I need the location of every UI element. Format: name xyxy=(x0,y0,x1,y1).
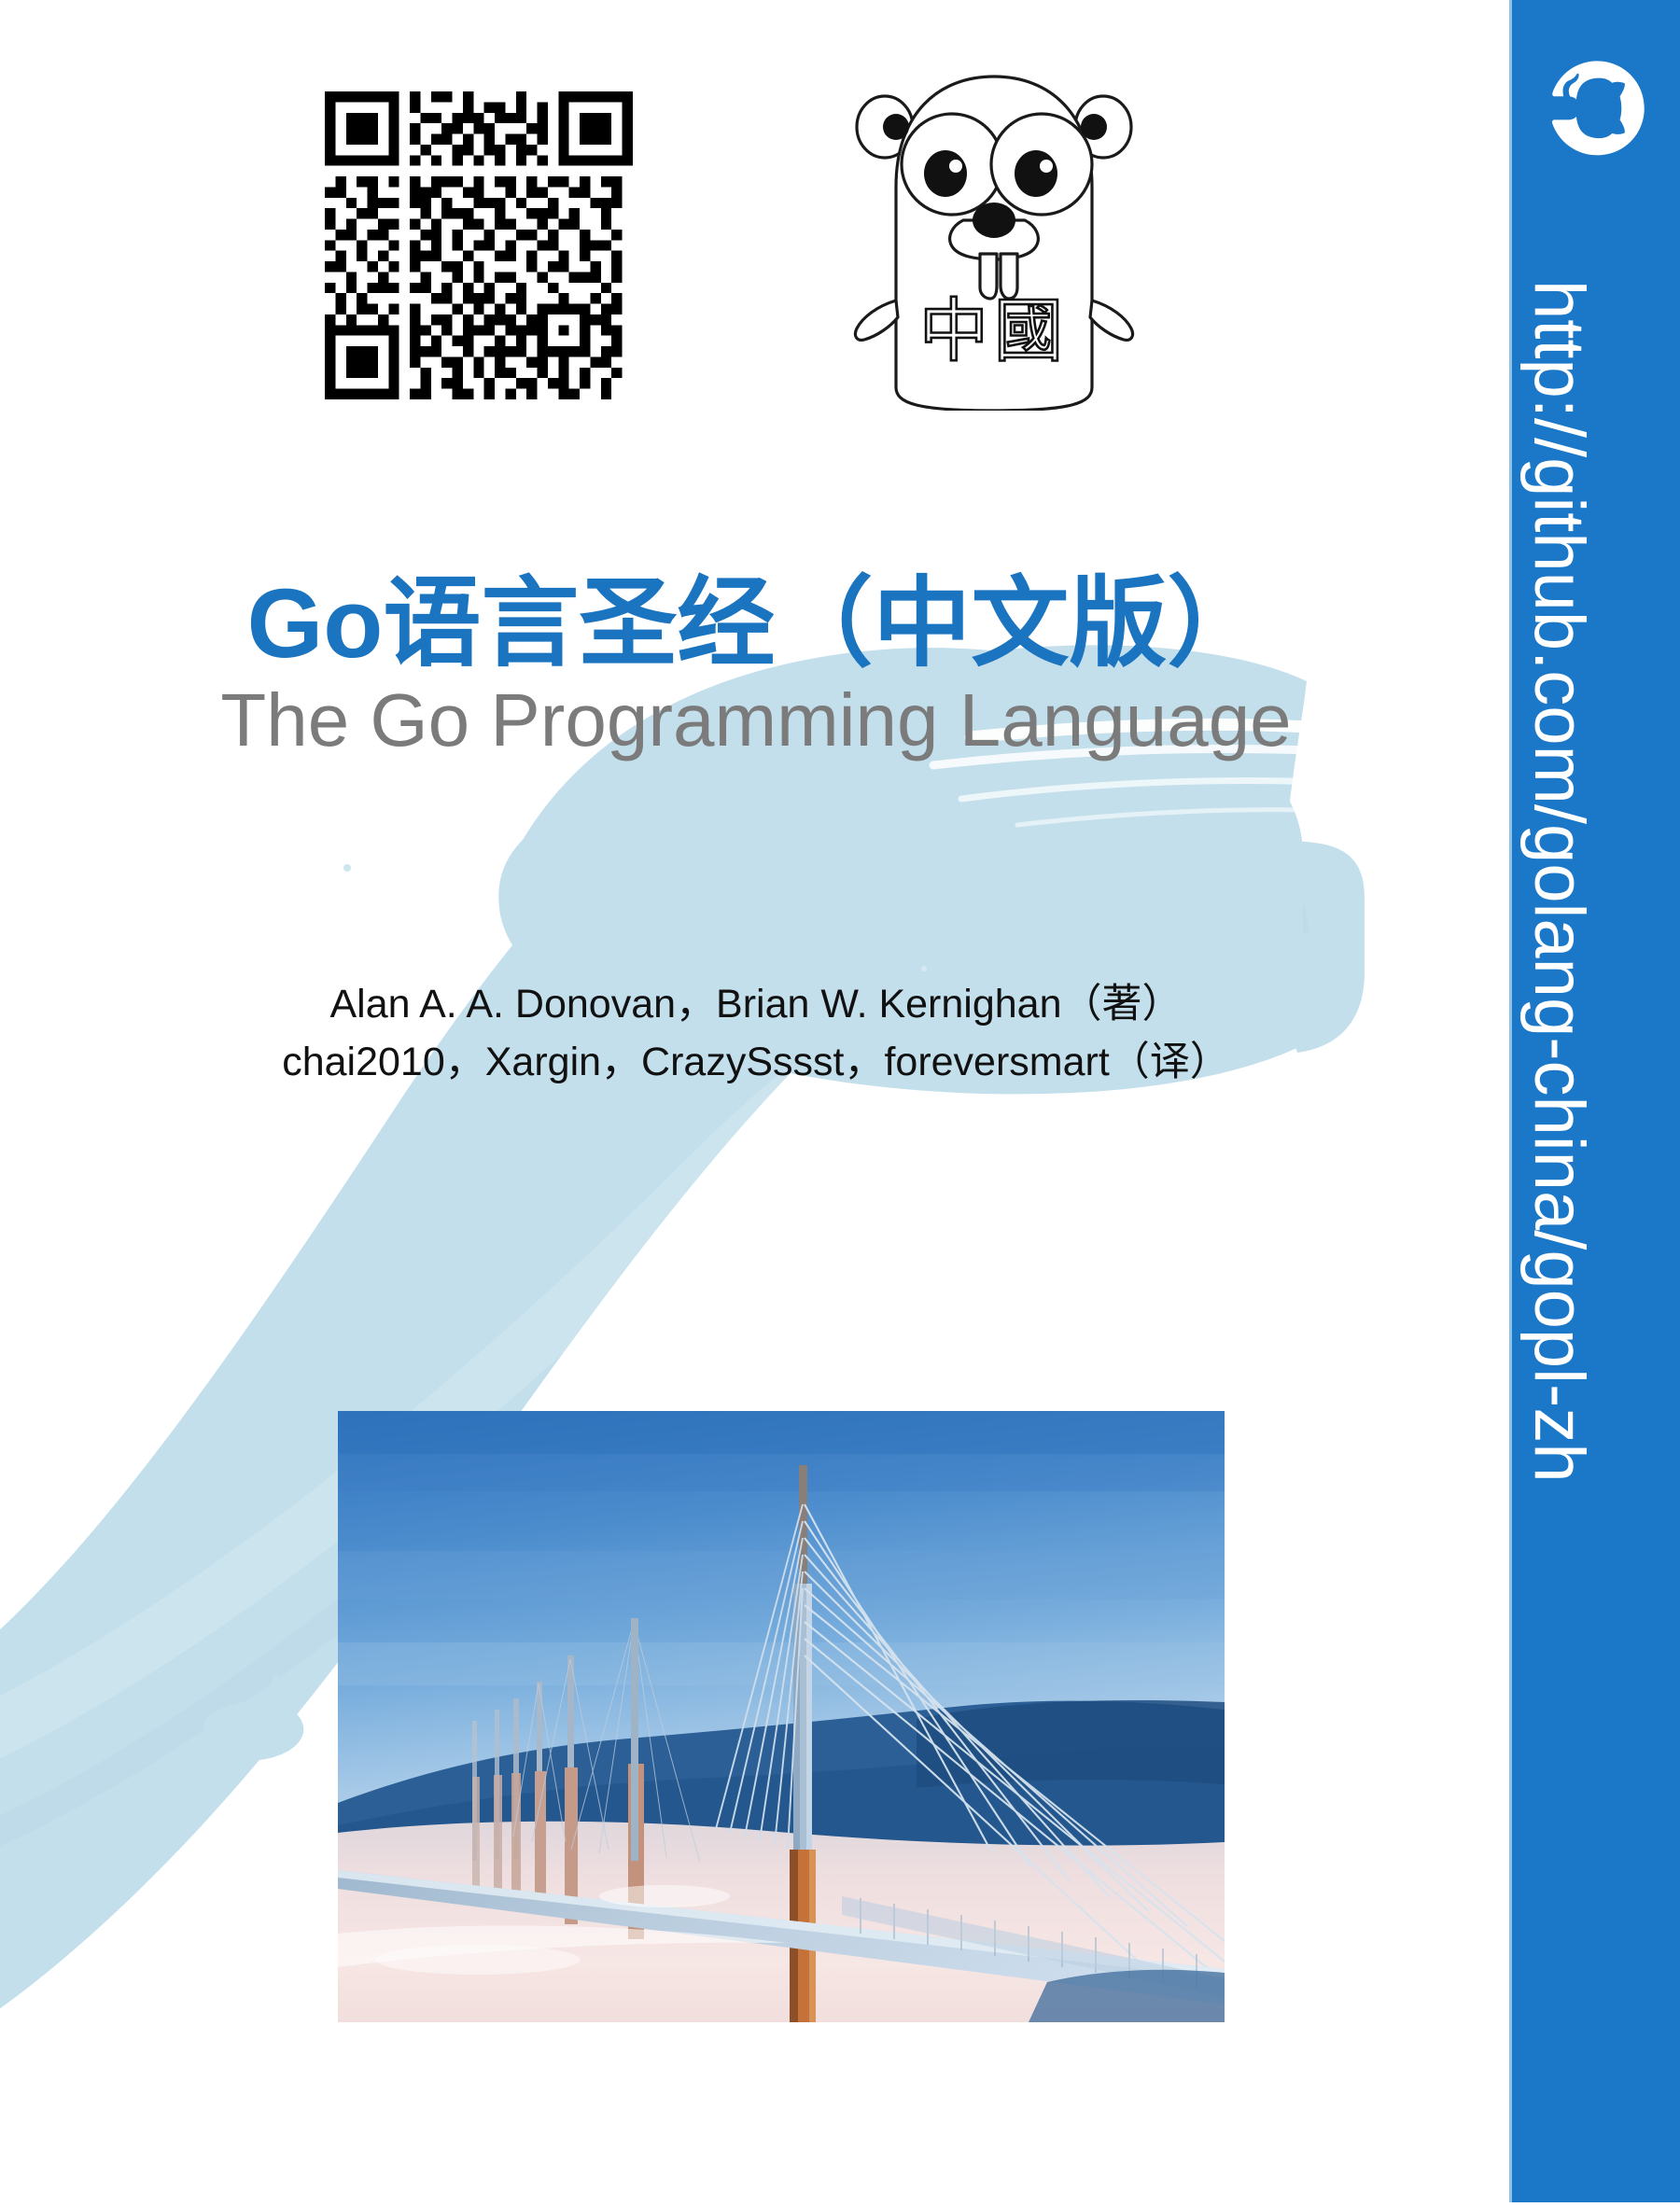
translators-line: chai2010，Xargin，CrazySssst，foreversmart（… xyxy=(0,1033,1512,1091)
sidebar-url-wrapper: http://github.com/golang-china/gopl-zh xyxy=(1512,280,1680,2146)
authors-line: Alan A. A. Donovan，Brian W. Kernighan（著） xyxy=(0,975,1512,1033)
github-url-sidebar: http://github.com/golang-china/gopl-zh xyxy=(1509,0,1680,2202)
page-subtitle: The Go Programming Language xyxy=(0,674,1512,767)
title-block: Go语言圣经（中文版） The Go Programming Language xyxy=(0,569,1512,767)
millau-viaduct-photo xyxy=(338,1411,1225,2022)
github-url-text[interactable]: http://github.com/golang-china/gopl-zh xyxy=(1474,280,1645,1483)
qr-code[interactable] xyxy=(325,91,633,399)
gopher-belly-text: 中國 xyxy=(919,291,1069,371)
page-title: Go语言圣经（中文版） xyxy=(0,569,1512,679)
github-octocat-icon[interactable] xyxy=(1546,58,1646,159)
authors-block: Alan A. A. Donovan，Brian W. Kernighan（著）… xyxy=(0,975,1512,1092)
go-gopher-mascot-icon: 中國 xyxy=(840,37,1148,411)
